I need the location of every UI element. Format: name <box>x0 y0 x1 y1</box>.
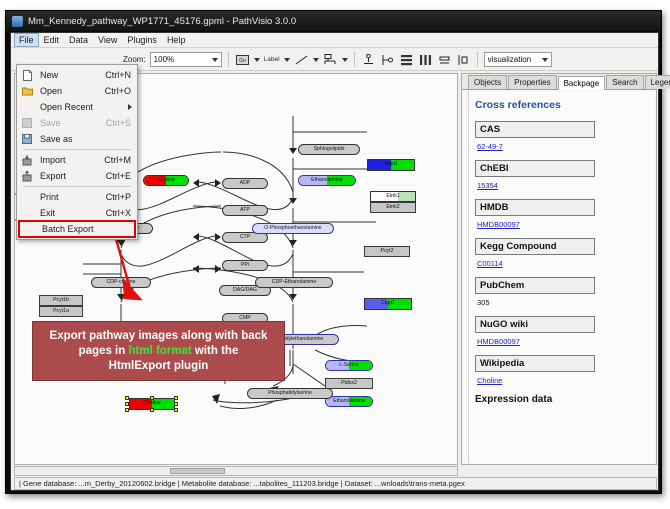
file-menu-accel-exit: Ctrl+X <box>106 208 137 218</box>
annotation-callout: Export pathway images along with back pa… <box>32 321 285 381</box>
datanode-dropdown-icon[interactable] <box>254 58 260 62</box>
menu-view[interactable]: View <box>93 33 122 47</box>
pathway-gene-ptdss2[interactable]: Ptdss2 <box>325 378 373 389</box>
chevron-down-icon <box>212 58 218 62</box>
pathway-node-ethanolamine-top[interactable]: Ethanolamine <box>298 175 356 186</box>
align-left-icon[interactable] <box>380 52 395 67</box>
export-icon <box>19 169 35 183</box>
file-menu-item-open[interactable]: Open Ctrl+O <box>17 83 137 99</box>
pathway-node-cdp-choline[interactable]: CDP-choline <box>91 277 151 288</box>
file-menu-item-export[interactable]: Export Ctrl+E <box>17 168 137 184</box>
folder-open-icon <box>19 84 35 98</box>
menu-data[interactable]: Data <box>64 33 93 47</box>
pathway-node-l-serine[interactable]: L-Serine <box>325 360 373 371</box>
visualization-combo[interactable]: visualization <box>484 52 552 67</box>
same-height-icon[interactable] <box>456 52 471 67</box>
node-label: Ptdss2 <box>341 381 357 386</box>
file-menu-item-save: Save Ctrl+S <box>17 115 137 131</box>
blank-icon <box>19 100 35 114</box>
import-icon <box>19 153 35 167</box>
selection-handle-sw[interactable] <box>125 408 129 412</box>
selection-handle-n[interactable] <box>150 396 154 400</box>
svg-text:Gn: Gn <box>239 58 246 64</box>
node-label: Ethanolamine <box>311 178 343 183</box>
file-menu-label-export: Export <box>35 171 106 181</box>
canvas-horizontal-scrollbar[interactable] <box>14 466 458 476</box>
screenshot-root: Mm_Kennedy_pathway_WP1771_45176.gpml - P… <box>0 0 670 509</box>
tab-objects[interactable]: Objects <box>468 75 507 89</box>
file-menu-item-exit[interactable]: Exit Ctrl+X <box>17 205 137 221</box>
label-tool-label[interactable]: Label <box>264 56 280 63</box>
pathway-node-sphingolipids[interactable]: Sphingolipids <box>298 144 360 155</box>
node-label: CDP-Ethanolamine <box>272 280 316 285</box>
file-menu-item-new[interactable]: New Ctrl+N <box>17 67 137 83</box>
pathway-node-choline-selected-group[interactable]: Choline <box>125 396 179 412</box>
node-label: CTP <box>240 235 250 240</box>
node-label: Pcyt1b <box>53 298 69 303</box>
expression-data-title: Expression data <box>475 394 654 405</box>
datanode-tool-icon[interactable]: Gn <box>235 52 250 67</box>
node-label: ADP <box>240 181 251 186</box>
pathway-gene-etnk1[interactable]: Etnk1 <box>370 191 416 202</box>
node-label: Pcyt2 <box>381 249 394 254</box>
file-menu-item-print[interactable]: Print Ctrl+P <box>17 189 137 205</box>
tab-search[interactable]: Search <box>606 75 643 89</box>
chevron-down-icon <box>542 58 548 62</box>
xref-value-nugo-wiki[interactable]: HMDB00097 <box>477 337 654 346</box>
tab-properties[interactable]: Properties <box>508 75 556 89</box>
pathway-node-choline-top[interactable]: Choline <box>143 175 189 186</box>
new-document-icon <box>19 68 35 82</box>
node-label: Etnk2 <box>386 205 399 210</box>
status-bar: | Gene database: ...m_Derby_20120602.bri… <box>14 477 657 490</box>
align-top-icon[interactable] <box>361 52 376 67</box>
pathway-node-ethanolamine-bottom[interactable]: Ethanolamine <box>325 396 373 407</box>
save-icon <box>19 116 35 130</box>
menu-file[interactable]: File <box>14 33 39 47</box>
xref-value-wikipedia[interactable]: Choline <box>477 376 654 385</box>
node-label: O-Phosphoethanolamine <box>264 226 321 231</box>
file-menu-item-batch-export[interactable]: Batch Export <box>19 221 135 237</box>
file-menu-accel-save: Ctrl+S <box>106 118 137 128</box>
file-menu-label-open-recent: Open Recent <box>35 102 137 112</box>
file-menu-label-batch-export: Batch Export <box>37 224 135 234</box>
title-bar: Mm_Kennedy_pathway_WP1771_45176.gpml - P… <box>6 11 661 31</box>
file-menu-accel-import: Ctrl+M <box>104 155 137 165</box>
annotation-line2-suffix: with the <box>192 345 239 357</box>
zoom-value: 100% <box>154 55 174 64</box>
xref-value-kegg-compound[interactable]: C00114 <box>477 259 654 268</box>
connector-tool-icon[interactable] <box>323 52 338 67</box>
connector-dropdown-icon[interactable] <box>342 58 348 62</box>
xref-value-hmdb[interactable]: HMDB00097 <box>477 220 654 229</box>
align-middle-icon[interactable] <box>399 52 414 67</box>
node-label: Pcyt1a <box>53 309 69 314</box>
file-menu-label-save: Save <box>35 118 106 128</box>
pathvisio-icon <box>12 16 23 27</box>
window-title: Mm_Kennedy_pathway_WP1771_45176.gpml - P… <box>28 16 296 27</box>
align-columns-icon[interactable] <box>418 52 433 67</box>
selection-handle-ne[interactable] <box>174 396 178 400</box>
menu-edit[interactable]: Edit <box>39 33 65 47</box>
cross-references-title: Cross references <box>475 99 654 111</box>
file-menu-label-save-as: Save as <box>35 134 131 144</box>
xref-source-pubchem: PubChem <box>475 277 595 294</box>
pathway-node-ppi[interactable]: PPi <box>222 260 268 271</box>
scrollbar-thumb[interactable] <box>170 468 225 474</box>
side-panel-tabs: Objects Properties Backpage Search Legen… <box>462 74 656 90</box>
file-menu-label-print: Print <box>35 192 106 202</box>
file-menu-label-import: Import <box>35 155 104 165</box>
node-label: CDP-choline <box>106 280 135 285</box>
pathway-gene-pcyt2[interactable]: Pcyt2 <box>364 246 410 257</box>
annotation-line3: HtmlExport plugin <box>109 360 209 372</box>
zoom-combo[interactable]: 100% <box>150 52 222 67</box>
file-menu-label-exit: Exit <box>35 208 106 218</box>
file-menu-accel-print: Ctrl+P <box>106 192 137 202</box>
tab-backpage[interactable]: Backpage <box>558 76 606 90</box>
selection-handle-w[interactable] <box>125 402 129 406</box>
xref-source-hmdb: HMDB <box>475 199 595 216</box>
annotation-line1: Export pathway images along with back <box>50 330 268 342</box>
pathway-node-cdp-ethanolamine[interactable]: CDP-Ethanolamine <box>255 277 333 288</box>
pathway-node-phosphatidylserine[interactable]: Phosphatidylserine <box>247 388 333 399</box>
window-client-area: File Edit Data View Plugins Help Zoom: 1… <box>10 32 659 491</box>
menu-separator <box>23 149 131 150</box>
pathway-node-adp[interactable]: ADP <box>222 178 268 189</box>
selection-handle-s[interactable] <box>150 408 154 412</box>
file-menu-accel-new: Ctrl+N <box>105 70 137 80</box>
line-tool-icon[interactable] <box>294 52 309 67</box>
file-menu-item-import[interactable]: Import Ctrl+M <box>17 152 137 168</box>
file-menu-item-save-as[interactable]: Save as <box>17 131 137 147</box>
blank-icon <box>19 206 35 220</box>
selection-handle-se[interactable] <box>174 408 178 412</box>
xref-source-wikipedia: Wikipedia <box>475 355 595 372</box>
xref-source-chebi: ChEBI <box>475 160 595 177</box>
file-menu-dropdown: New Ctrl+N Open Ctrl+O Open Recent <box>16 64 138 240</box>
label-dropdown-icon[interactable] <box>284 58 290 62</box>
side-panel: Objects Properties Backpage Search Legen… <box>461 73 657 465</box>
menu-help[interactable]: Help <box>162 33 191 47</box>
xref-source-cas: CAS <box>475 121 595 138</box>
file-menu-accel-export: Ctrl+E <box>106 171 137 181</box>
annotation-highlight: html format <box>128 345 191 357</box>
file-menu-accel-open: Ctrl+O <box>105 86 137 96</box>
node-label: Etnk1 <box>386 194 399 199</box>
save-as-icon <box>19 132 35 146</box>
tab-legend[interactable]: Legend <box>645 75 670 89</box>
backpage-content: Cross references CAS 62-49-7 ChEBI 15354… <box>468 91 654 463</box>
annotation-line2-prefix: pages in <box>79 345 129 357</box>
node-label: Sgpl1 <box>384 162 397 167</box>
node-label: L-Serine <box>339 363 359 368</box>
node-label: DAG/DAG <box>233 288 257 293</box>
pathway-gene-cept1[interactable]: Cept1 <box>364 298 412 310</box>
pathway-gene-pcyt1a[interactable]: Pcyt1a <box>39 306 83 317</box>
pathway-node-o-phosphoethanolamine[interactable]: O-Phosphoethanolamine <box>252 223 334 234</box>
menu-bar: File Edit Data View Plugins Help <box>11 33 658 48</box>
node-label: Choline <box>143 401 161 406</box>
xref-source-kegg-compound: Kegg Compound <box>475 238 595 255</box>
zoom-label: Zoom: <box>123 55 146 64</box>
file-menu-label-open: Open <box>35 86 105 96</box>
submenu-arrow-icon <box>128 104 132 110</box>
toolbar-separator-2 <box>354 52 355 67</box>
xref-value-chebi[interactable]: 15354 <box>477 181 654 190</box>
selection-handle-e[interactable] <box>174 402 178 406</box>
blank-icon <box>19 190 35 204</box>
application-window: Mm_Kennedy_pathway_WP1771_45176.gpml - P… <box>5 10 662 494</box>
file-menu-item-open-recent[interactable]: Open Recent <box>17 99 137 115</box>
expression-pale-green <box>398 192 415 201</box>
status-text: | Gene database: ...m_Derby_20120602.bri… <box>19 479 465 488</box>
pathway-gene-etnk2[interactable]: Etnk2 <box>370 202 416 213</box>
blank-icon <box>21 222 37 236</box>
xref-value-pubchem: 305 <box>477 298 654 307</box>
toolbar-separator <box>228 52 229 67</box>
pathway-gene-pcyt1b[interactable]: Pcyt1b <box>39 295 83 306</box>
node-label: Phosphatidylserine <box>268 391 312 396</box>
node-label: Sphingolipids <box>314 147 345 152</box>
node-label: ATP <box>240 208 250 213</box>
annotation-text: Export pathway images along with back pa… <box>50 329 268 374</box>
menu-separator-2 <box>23 186 131 187</box>
menu-plugins[interactable]: Plugins <box>122 33 162 47</box>
pathway-node-atp[interactable]: ATP <box>222 205 268 216</box>
file-menu-label-new: New <box>35 70 105 80</box>
node-label: Ethanolamine <box>333 399 365 404</box>
xref-source-nugo-wiki: NuGO wiki <box>475 316 595 333</box>
xref-value-cas[interactable]: 62-49-7 <box>477 142 654 151</box>
same-width-icon[interactable] <box>437 52 452 67</box>
visualization-value: visualization <box>488 55 532 64</box>
node-label: Choline <box>157 178 175 183</box>
pathway-gene-sgpl1[interactable]: Sgpl1 <box>367 159 415 171</box>
line-dropdown-icon[interactable] <box>313 58 319 62</box>
selection-handle-nw[interactable] <box>125 396 129 400</box>
node-label: Cept1 <box>381 301 395 306</box>
toolbar-separator-3 <box>477 52 478 67</box>
node-label: PPi <box>241 263 249 268</box>
